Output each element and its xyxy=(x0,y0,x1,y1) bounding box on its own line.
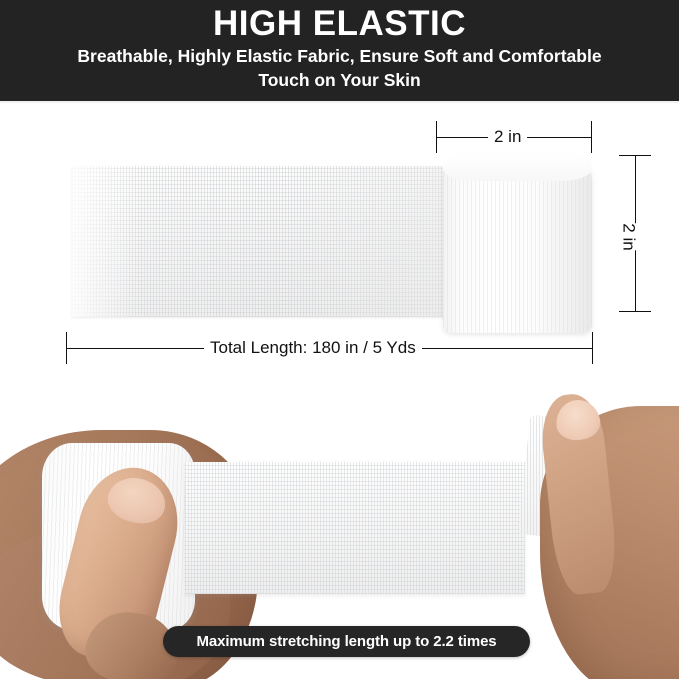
product-infographic: HIGH ELASTIC Breathable, Highly Elastic … xyxy=(0,0,679,679)
bandage-roll-top xyxy=(443,155,592,333)
header-banner: HIGH ELASTIC Breathable, Highly Elastic … xyxy=(0,0,679,101)
bandage-flat-strip xyxy=(72,166,447,317)
stretch-callout-banner: Maximum stretching length up to 2.2 time… xyxy=(163,626,530,657)
stretch-callout-text: Maximum stretching length up to 2.2 time… xyxy=(196,633,496,650)
page-subtitle: Breathable, Highly Elastic Fabric, Ensur… xyxy=(60,44,620,92)
width-dim-label: 2 in xyxy=(488,127,527,147)
page-title: HIGH ELASTIC xyxy=(213,4,466,44)
bandage-stretched-strip xyxy=(185,462,525,594)
height-dim-label: 2 in xyxy=(613,223,645,250)
length-dim-label: Total Length: 180 in / 5 Yds xyxy=(204,338,422,358)
left-thumb-nail xyxy=(103,472,170,529)
